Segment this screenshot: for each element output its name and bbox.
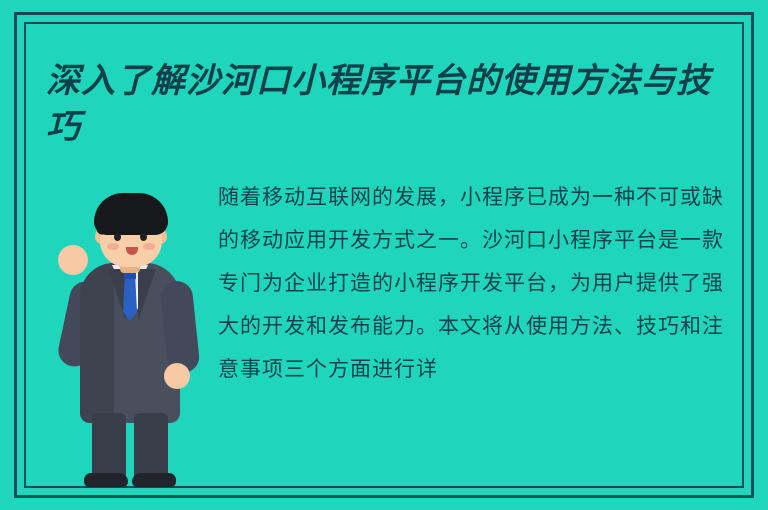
body-paragraph: 随着移动互联网的发展，小程序已成为一种不可或缺的移动应用开发方式之一。沙河口小程… — [218, 176, 730, 391]
left-eye — [114, 233, 121, 241]
page-title: 深入了解沙河口小程序平台的使用方法与技巧 — [46, 58, 726, 150]
right-cheek — [143, 243, 155, 250]
left-leg — [92, 413, 126, 479]
lapel-right — [138, 269, 156, 321]
businessman-illustration — [52, 185, 212, 485]
left-shoe — [84, 473, 128, 487]
poster-canvas: 深入了解沙河口小程序平台的使用方法与技巧 随着移动互联网的发展，小程序已成为一种… — [0, 0, 768, 510]
left-hand — [58, 245, 88, 275]
right-eye — [140, 233, 147, 241]
right-hand — [164, 363, 190, 389]
right-shoe — [132, 473, 176, 487]
left-cheek — [107, 243, 119, 250]
right-leg — [134, 413, 168, 479]
